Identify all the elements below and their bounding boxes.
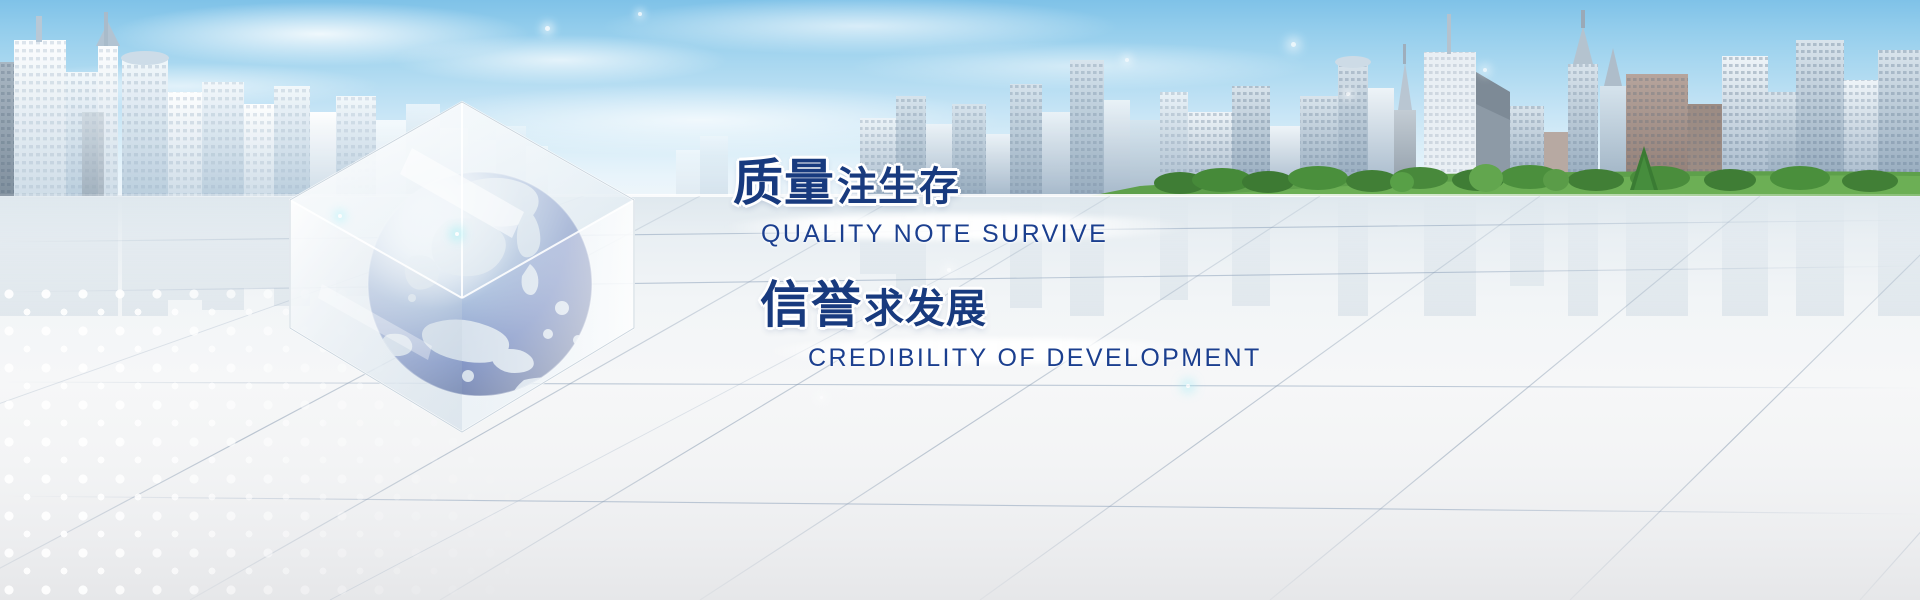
slogan-credibility-headline-light: 求发展 <box>864 286 987 332</box>
hero-banner: 质量注生存 QUALITY NOTE SURVIVE 信誉求发展 CREDIBI… <box>0 0 1920 600</box>
sparkle-icon <box>545 26 550 31</box>
glass-crystal-globe <box>262 88 662 458</box>
slogan-credibility-headline: 信誉求发展 <box>760 280 987 330</box>
sparkle-icon <box>1291 42 1296 47</box>
slogan-quality-headline-light: 注生存 <box>837 164 960 210</box>
sparkle-icon <box>638 12 642 16</box>
slogan-quality-headline-bold: 质量 <box>733 154 835 212</box>
sparkle-icon <box>1125 58 1129 62</box>
sparkle-icon <box>1346 92 1350 96</box>
sparkle-icon <box>455 232 459 236</box>
sparkle-icon <box>1483 68 1487 72</box>
slogan-quality-subtitle: QUALITY NOTE SURVIVE <box>761 220 1108 249</box>
sparkle-icon <box>947 268 951 272</box>
sparkle-icon <box>820 396 823 399</box>
sparkle-icon <box>338 214 342 218</box>
slogan-credibility-subtitle: CREDIBILITY OF DEVELOPMENT <box>808 344 1262 373</box>
slogan-quality-headline: 质量注生存 <box>733 158 960 208</box>
sparkle-icon <box>1186 384 1190 388</box>
slogan-credibility-headline-bold: 信誉 <box>760 276 862 334</box>
